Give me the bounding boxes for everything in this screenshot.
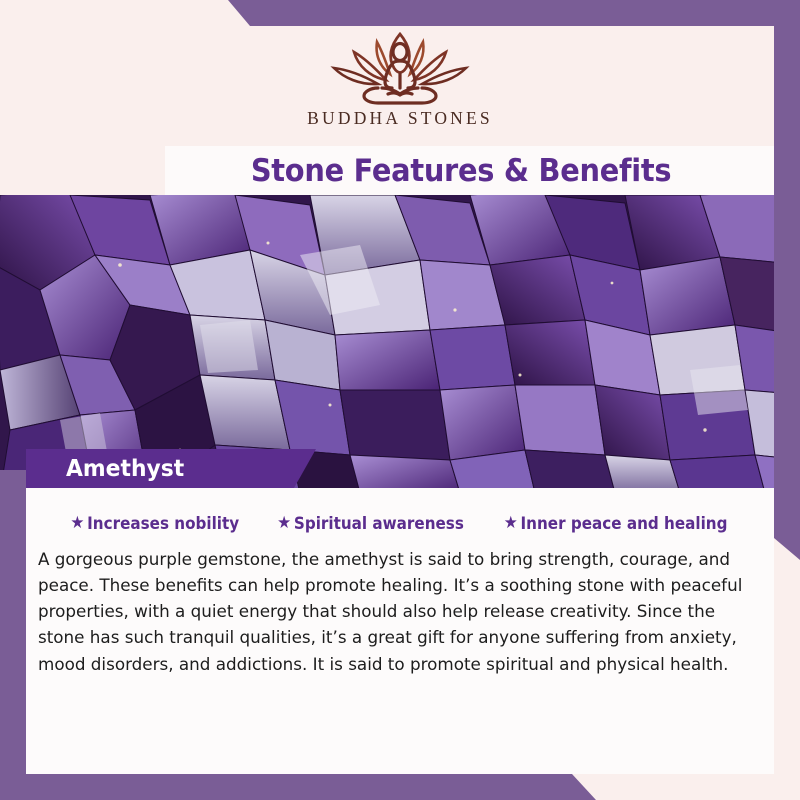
feature-item-1: ★ Increases nobility: [71, 514, 240, 533]
content-card: ★ Increases nobility ★ Spiritual awarene…: [26, 488, 774, 774]
title-band: Stone Features & Benefits: [165, 146, 800, 195]
feature-item-2: ★ Spiritual awareness: [277, 514, 464, 533]
frame-right-bar: [774, 0, 800, 560]
feature-list: ★ Increases nobility ★ Spiritual awarene…: [26, 488, 774, 533]
amethyst-crystal-cluster-photo: [0, 195, 800, 488]
star-icon: ★: [71, 515, 85, 532]
feature-label-3: Inner peace and healing: [520, 514, 727, 533]
frame-left-bar: [0, 470, 26, 800]
lotus-meditation-icon: [320, 24, 480, 106]
title-band-filler: [0, 146, 166, 195]
stone-description: A gorgeous purple gemstone, the amethyst…: [38, 547, 744, 678]
star-icon: ★: [277, 515, 291, 532]
frame-bottom-bar: [0, 774, 800, 800]
star-icon: ★: [503, 515, 517, 532]
feature-label-1: Increases nobility: [87, 514, 239, 533]
stone-name-text: Amethyst: [66, 456, 184, 482]
brand-name: BUDDHA STONES: [307, 108, 493, 129]
stone-name-badge: Amethyst: [26, 449, 316, 488]
page-title: Stone Features & Benefits: [251, 153, 671, 189]
feature-item-3: ★ Inner peace and healing: [503, 514, 727, 533]
stone-info-poster: BUDDHA STONES Stone Features & Benefits: [0, 0, 800, 800]
feature-label-2: Spiritual awareness: [294, 514, 464, 533]
